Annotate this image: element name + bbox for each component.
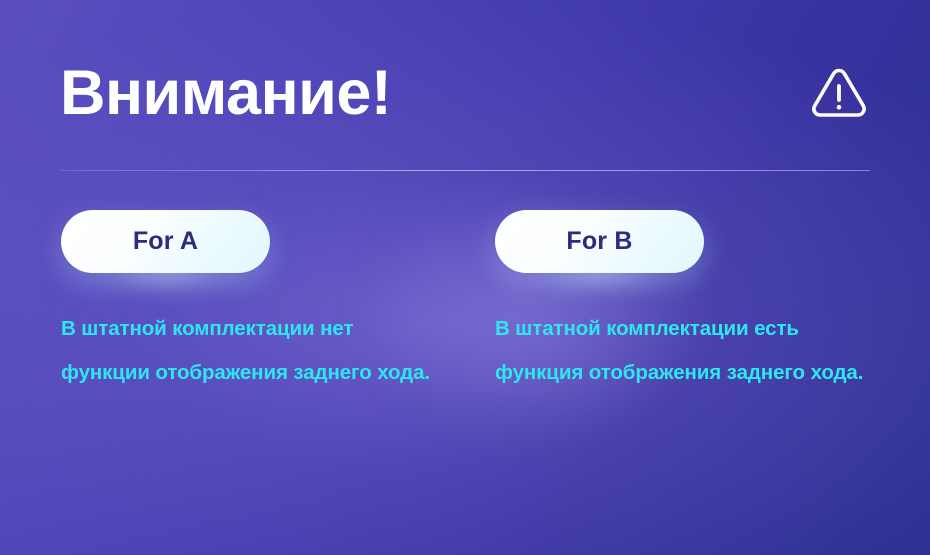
- page-title: Внимание!: [60, 48, 391, 138]
- pill-label-for-b: For B: [566, 229, 632, 254]
- warning-triangle-icon: [808, 62, 870, 124]
- pill-label-for-a: For A: [133, 229, 198, 254]
- pill-button-for-a[interactable]: For A: [61, 210, 270, 273]
- description-for-b: В штатной комплектации есть функция отоб…: [495, 273, 880, 395]
- column-for-b: For B В штатной комплектации есть функци…: [495, 210, 885, 395]
- warning-slide: Внимание! For A В штатной комплектации н…: [0, 0, 930, 555]
- pill-button-for-b[interactable]: For B: [495, 210, 704, 273]
- column-for-a: For A В штатной комплектации нет функции…: [61, 210, 451, 395]
- description-for-a: В штатной комплектации нет функции отобр…: [61, 273, 446, 395]
- header-divider: [60, 170, 870, 171]
- slide-header: Внимание!: [60, 48, 870, 138]
